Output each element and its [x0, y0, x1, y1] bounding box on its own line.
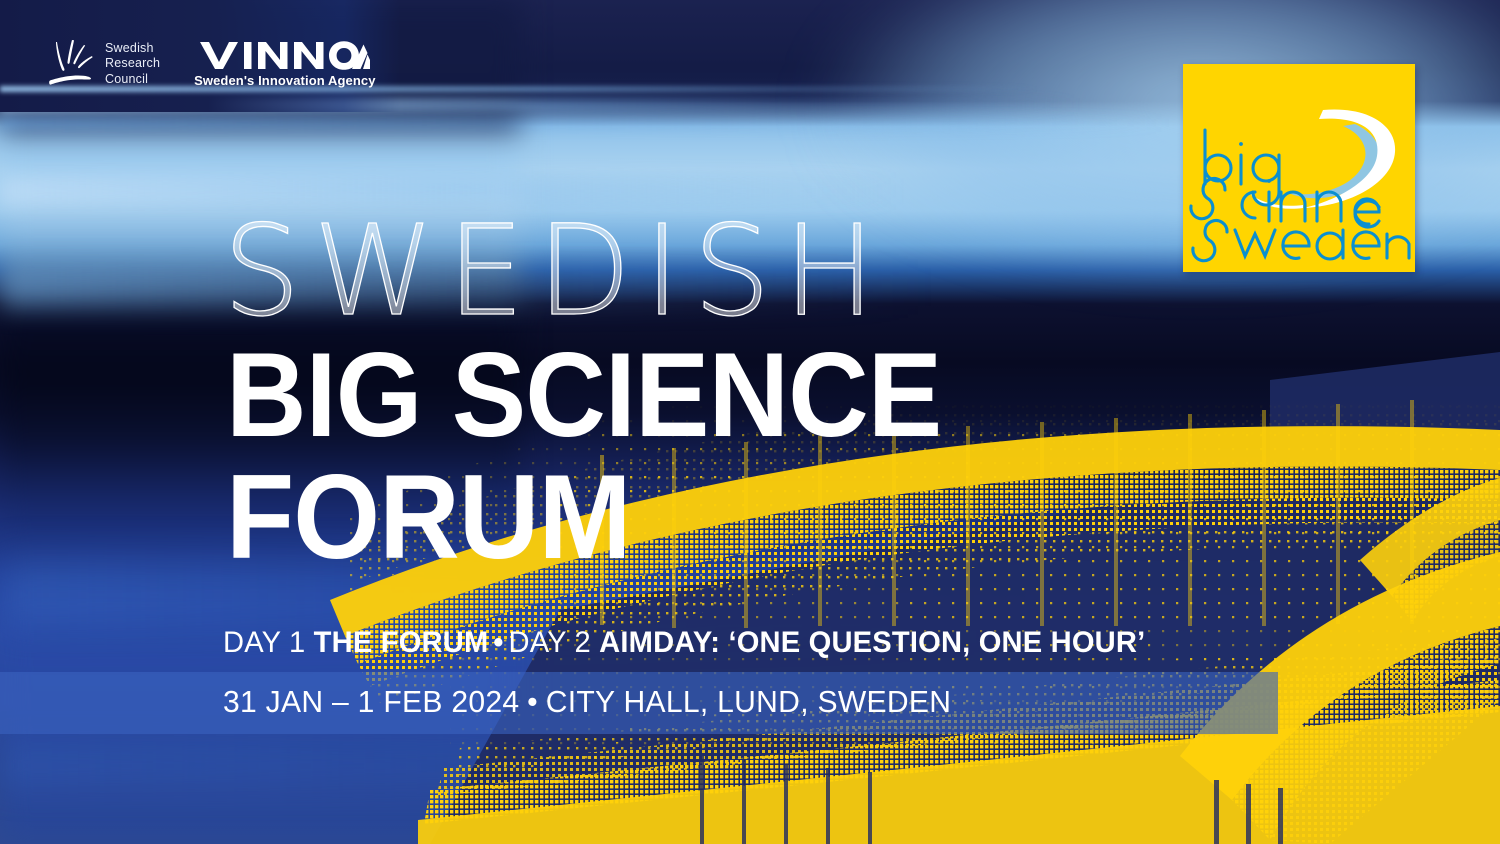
vinnova-logo: Sweden's Innovation Agency: [194, 40, 375, 88]
src-line-2: Research: [105, 56, 160, 72]
event-dates: 31 JAN – 1 FEB 2024: [223, 684, 519, 719]
event-venue: CITY HALL, LUND, SWEDEN: [546, 684, 951, 719]
page-title-line-thin: SWEDISH: [223, 209, 888, 333]
details-line: 31 JAN – 1 FEB 2024•CITY HALL, LUND, SWE…: [223, 684, 951, 720]
vinnova-tagline: Sweden's Innovation Agency: [194, 73, 375, 88]
day1-title: THE FORUM: [314, 626, 489, 659]
page-title-line-bold-2: FORUM: [226, 460, 630, 574]
page-title-line-bold-1: BIG SCIENCE: [226, 338, 941, 452]
partner-logos: Swedish Research Council: [48, 38, 376, 90]
swedish-research-council-wordmark: Swedish Research Council: [105, 41, 160, 88]
vinnova-wordmark-icon: [200, 40, 370, 70]
big-science-sweden-logo: [1183, 64, 1415, 272]
program-line: DAY 1 THE FORUM•DAY 2 AIMDAY: ‘ONE QUEST…: [223, 626, 1145, 660]
program-separator: •: [488, 626, 508, 659]
src-line-3: Council: [105, 72, 160, 88]
day1-label: DAY 1: [223, 626, 305, 659]
big-science-sweden-logo-icon: [1183, 64, 1415, 272]
day2-title: AIMDAY: ‘ONE QUESTION, ONE HOUR’: [599, 626, 1145, 659]
poster-canvas: Swedish Research Council: [0, 0, 1500, 844]
sprout-mark-icon: [48, 38, 94, 90]
swedish-research-council-logo: Swedish Research Council: [48, 38, 160, 90]
src-line-1: Swedish: [105, 41, 160, 57]
details-separator: •: [519, 684, 545, 719]
day2-label: DAY 2: [508, 626, 590, 659]
